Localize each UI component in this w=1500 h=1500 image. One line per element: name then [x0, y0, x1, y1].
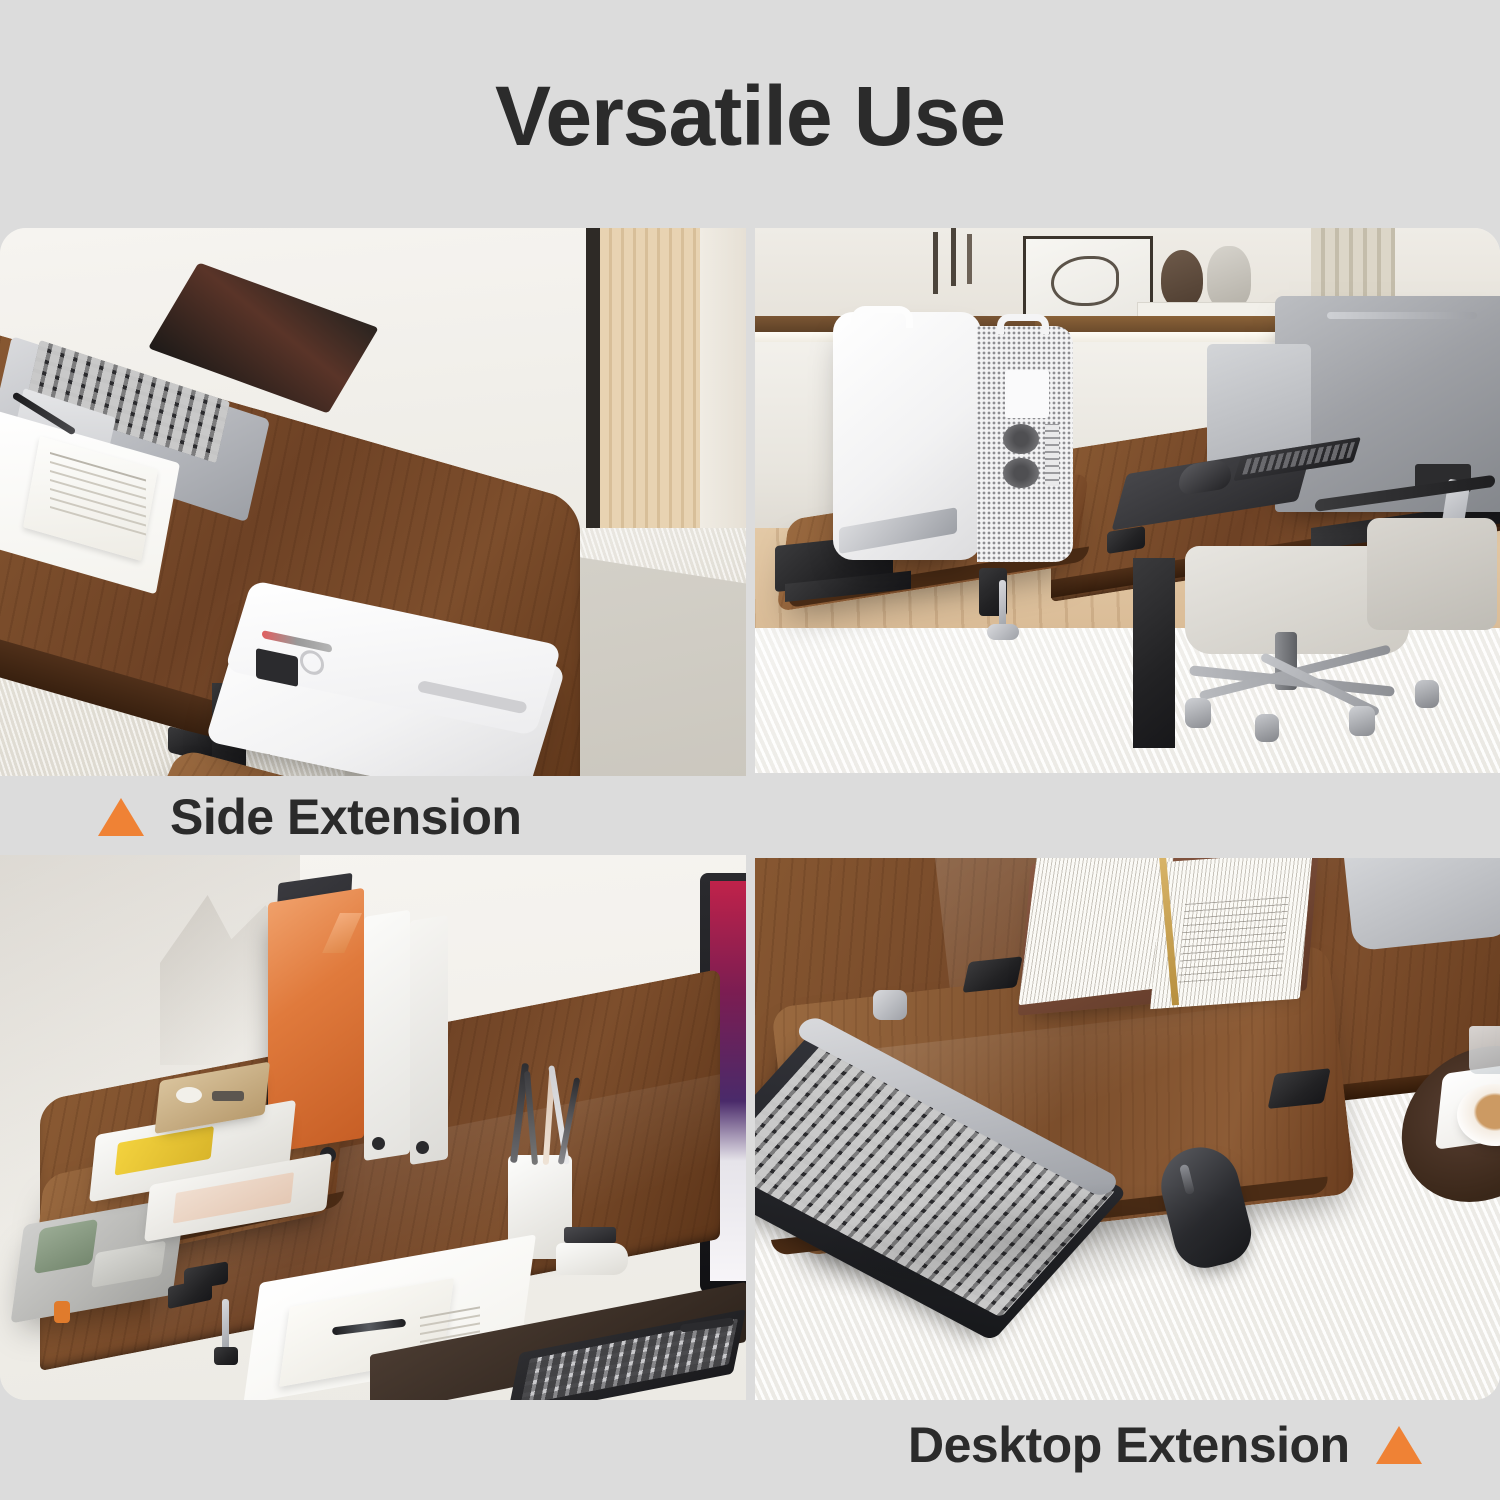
clamp-screw-knob — [987, 624, 1019, 640]
magazine-file-white-2 — [410, 915, 448, 1165]
chair-caster-1 — [1185, 698, 1211, 728]
panel-bottom-right-desktop-extension-keyboard-tray — [755, 858, 1500, 1400]
magazine-file-white-1 — [364, 910, 410, 1161]
laptop-corner — [1343, 858, 1500, 951]
stapler-tray — [556, 1243, 628, 1275]
vase-gray — [1207, 246, 1251, 308]
clamp-screw-knob — [214, 1347, 238, 1365]
panel-top-left-side-extension-printer — [0, 228, 746, 776]
cable-clip-2 — [1268, 1068, 1331, 1109]
vase-dark — [1161, 250, 1203, 308]
caption-side-extension-label: Side Extension — [170, 788, 521, 846]
tower-pc-label-panel — [1005, 370, 1049, 418]
tower-pc-ports — [1045, 424, 1059, 486]
desk-leg — [1133, 558, 1175, 748]
caption-side-extension: Side Extension — [98, 788, 521, 846]
clamp-screw-shaft — [222, 1299, 229, 1353]
frame-artwork-sketch — [1051, 256, 1119, 306]
triangle-up-icon — [98, 798, 144, 836]
panel-bottom-left-side-extension-organizers — [0, 855, 746, 1400]
drinking-glass — [1469, 1026, 1500, 1074]
panel-top-right-side-extension-tower-pc — [755, 228, 1500, 773]
diffuser-stick-2 — [951, 228, 956, 286]
tower-pc-fan-1 — [1003, 424, 1039, 454]
monitor-vent-slot — [1327, 312, 1477, 319]
orange-release-knob — [54, 1301, 70, 1323]
caption-desktop-extension: Desktop Extension — [908, 1416, 1422, 1474]
book-text-lines — [1178, 897, 1289, 983]
tower-pc-handle-rear — [997, 314, 1049, 334]
magazine-file-hole-2 — [416, 1141, 429, 1154]
product-feature-image: Versatile Use — [0, 0, 1500, 1500]
slat-wall — [600, 228, 700, 568]
tray-round-item — [176, 1087, 202, 1103]
chair-caster-3 — [1255, 714, 1279, 742]
wall-right-edge — [700, 228, 746, 578]
tray-small-item — [212, 1091, 244, 1101]
tower-pc-handle-front — [851, 306, 913, 328]
stapler — [564, 1227, 616, 1243]
wall-trim-dark — [586, 228, 600, 573]
chair-caster-2 — [1349, 706, 1375, 736]
magazine-file-hole-1 — [372, 1137, 385, 1150]
page-title: Versatile Use — [0, 72, 1500, 160]
tower-pc-fan-2 — [1003, 458, 1039, 488]
caption-desktop-extension-label: Desktop Extension — [908, 1416, 1350, 1474]
triangle-up-icon — [1376, 1426, 1422, 1464]
diffuser-stick — [933, 232, 938, 294]
keyboard-dial — [873, 990, 907, 1020]
chair-back — [1367, 518, 1497, 630]
clamp-screw-shaft — [999, 580, 1006, 630]
diffuser-stick-3 — [967, 234, 972, 284]
chair-caster-4 — [1415, 680, 1439, 708]
